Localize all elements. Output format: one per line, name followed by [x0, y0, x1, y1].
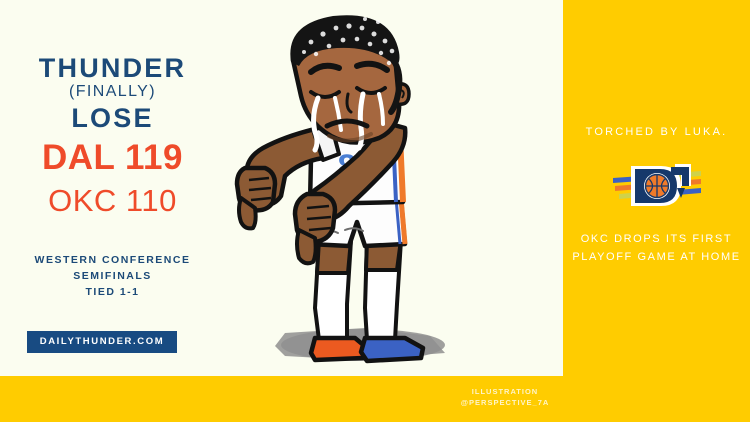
- series-round-line2: SEMIFINALS: [0, 268, 225, 284]
- dallas-mavericks-logo-icon: [611, 160, 703, 212]
- graphic-canvas: 8: [0, 0, 750, 422]
- caption-okc-drops-first-home-game: OKC DROPS ITS FIRST PLAYOFF GAME AT HOME: [563, 230, 750, 266]
- headline-finally: (FINALLY): [0, 84, 225, 100]
- caption-line2: PLAYOFF GAME AT HOME: [563, 248, 750, 266]
- series-status: WESTERN CONFERENCE SEMIFINALS TIED 1-1: [0, 252, 225, 300]
- headline-thunder: THUNDER: [0, 55, 225, 82]
- score-dallas: DAL 119: [0, 140, 225, 175]
- score-oklahoma-city: OKC 110: [0, 185, 225, 216]
- headline-lose: LOSE: [0, 105, 225, 132]
- series-round-line1: WESTERN CONFERENCE: [0, 252, 225, 268]
- credit-handle: @PERSPECTIVE_7A: [430, 397, 580, 408]
- dailythunder-site-button[interactable]: DAILYTHUNDER.COM: [27, 331, 177, 353]
- player-illustration: 8: [215, 8, 505, 376]
- caption-torched-by-luka: TORCHED BY LUKA.: [563, 127, 750, 138]
- left-text-column: THUNDER (FINALLY) LOSE DAL 119 OKC 110 W…: [0, 0, 225, 376]
- credit-label: ILLUSTRATION: [430, 386, 580, 397]
- series-record: TIED 1-1: [0, 284, 225, 300]
- caption-line1: OKC DROPS ITS FIRST: [563, 230, 750, 248]
- illustration-credit: ILLUSTRATION @PERSPECTIVE_7A: [430, 386, 580, 408]
